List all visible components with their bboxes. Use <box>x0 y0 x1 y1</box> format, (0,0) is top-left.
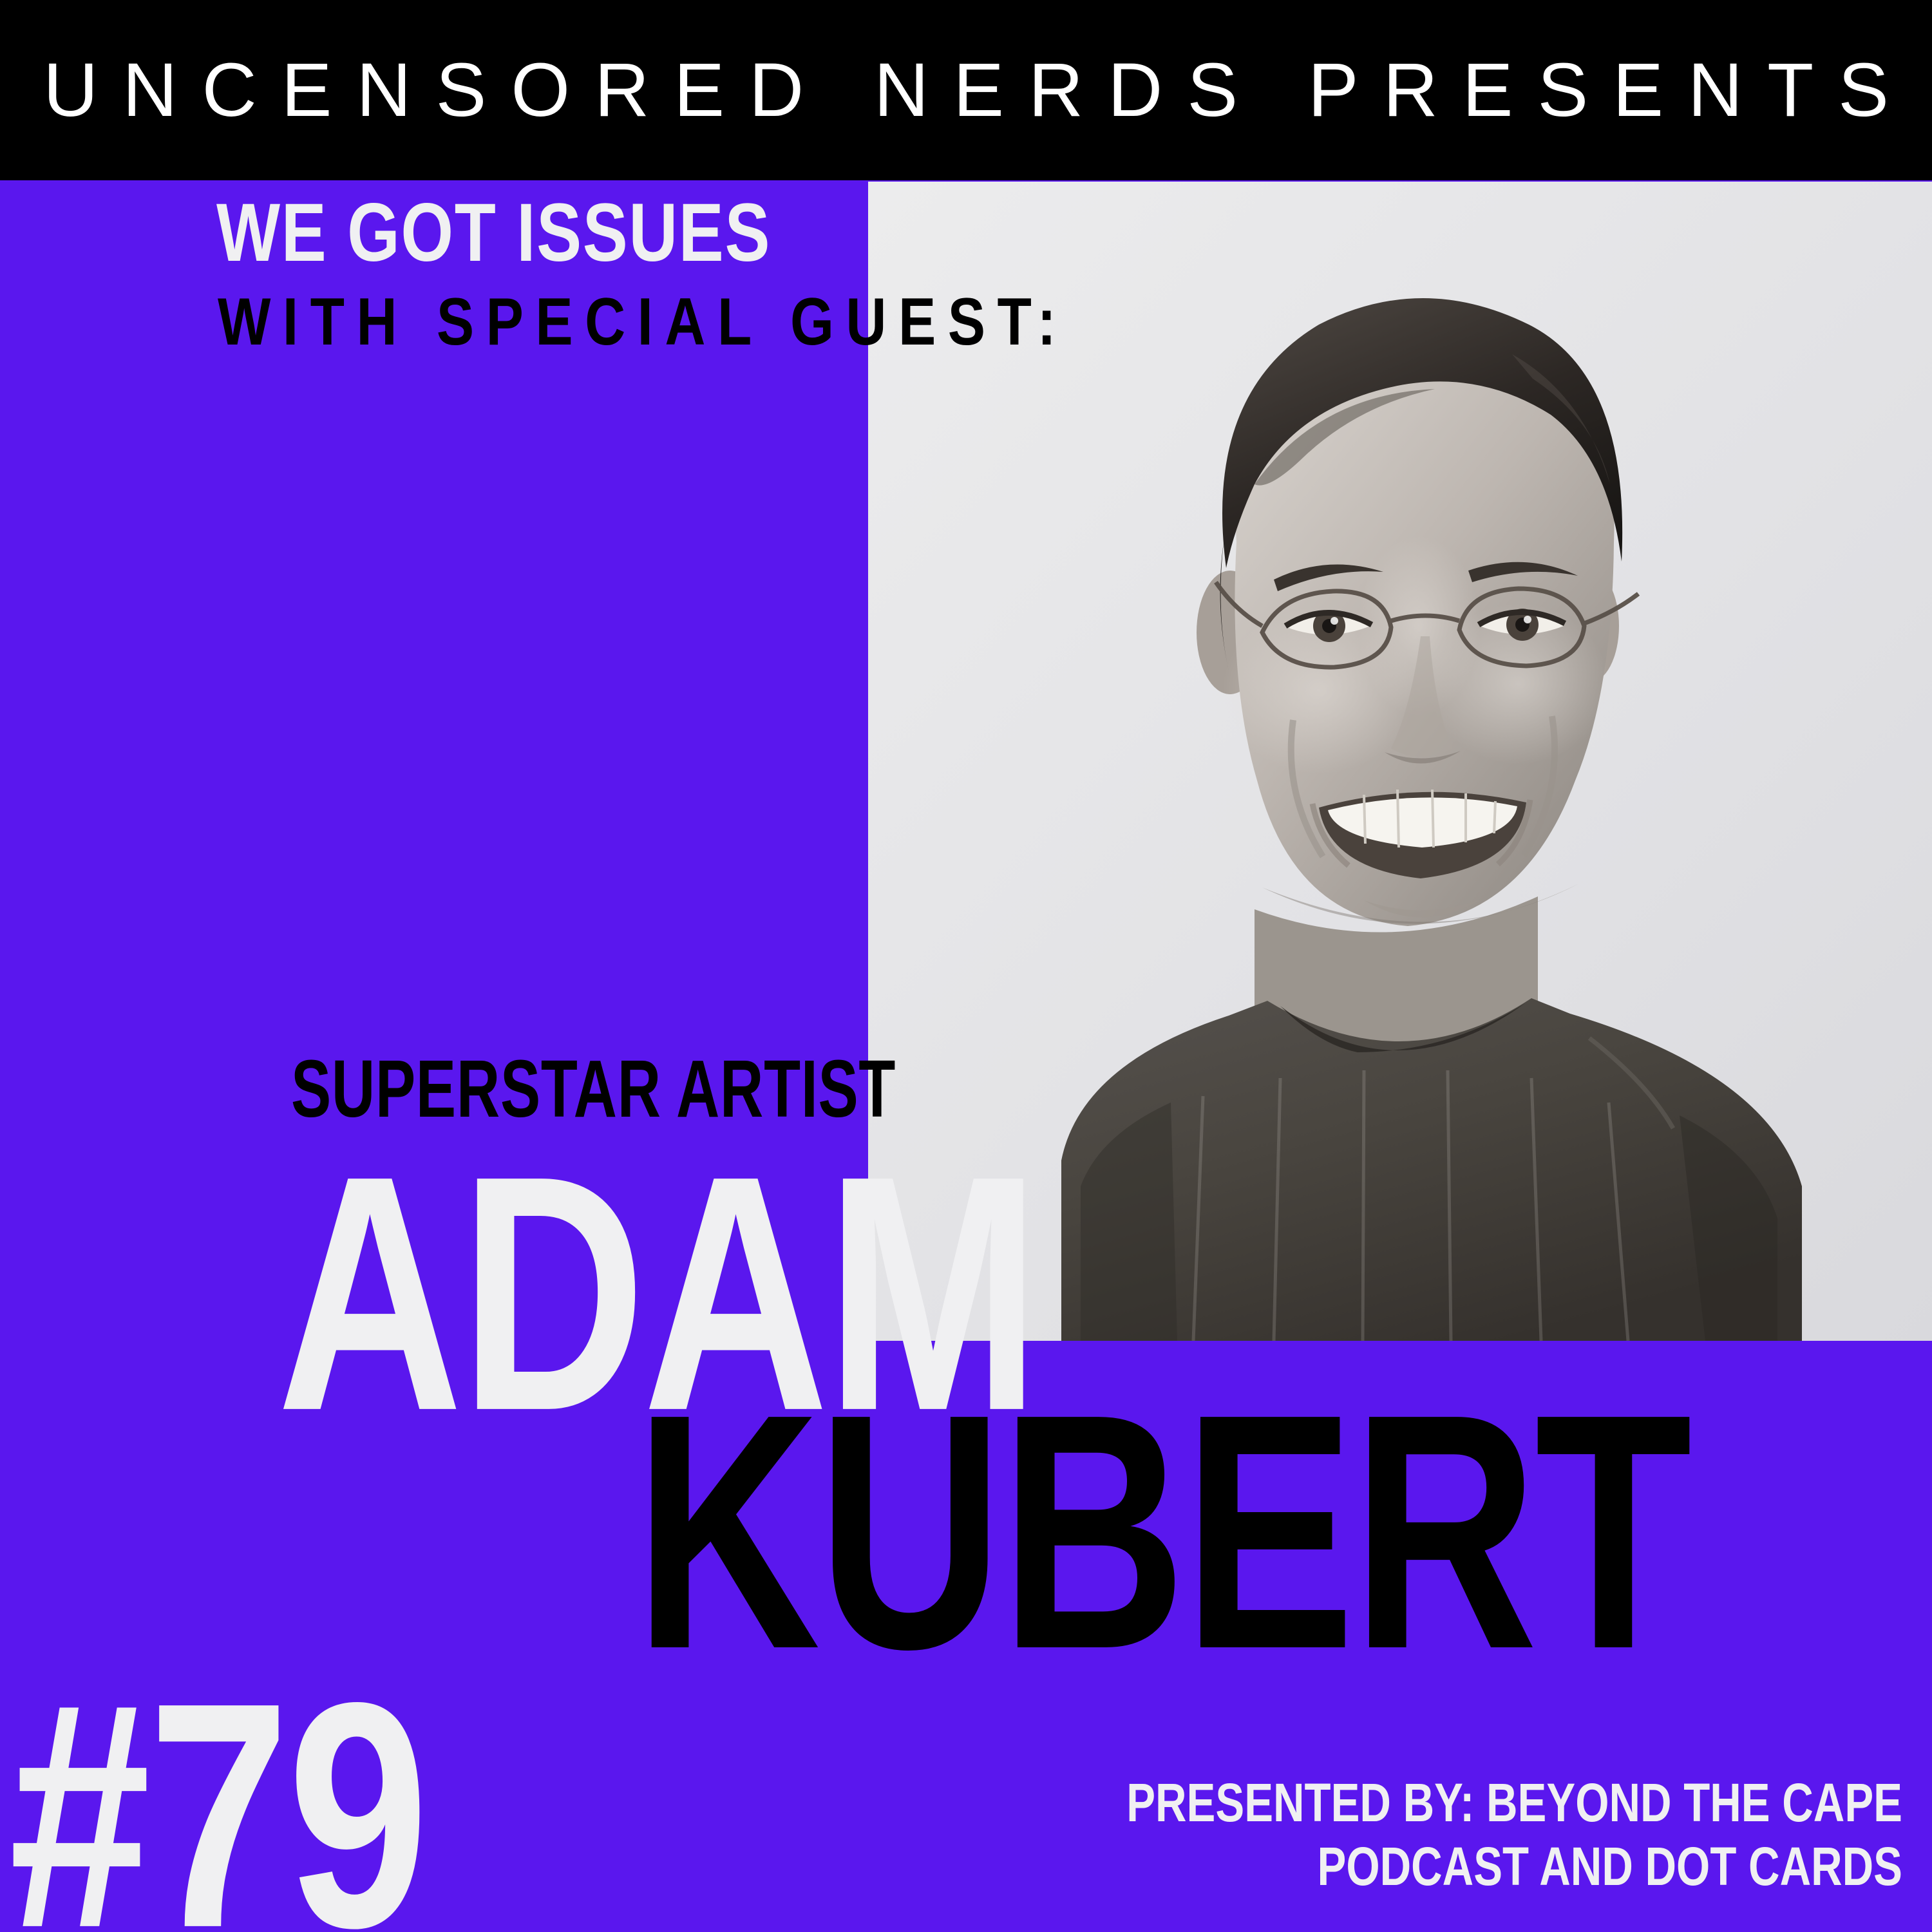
network-banner: UNCENSORED NERDS PRESENTS <box>0 0 1932 180</box>
credit-line-2: PODCAST AND DOT CARDS <box>1126 1835 1902 1899</box>
podcast-cover-art: UNCENSORED NERDS PRESENTS WE GOT ISSUES … <box>0 0 1932 1932</box>
special-guest-kicker: WITH SPECIAL GUEST: <box>218 289 1068 355</box>
network-presents-text: UNCENSORED NERDS PRESENTS <box>0 0 1932 180</box>
credit-line-1: PRESENTED BY: BEYOND THE CAPE <box>1126 1771 1902 1835</box>
presented-by-credit: PRESENTED BY: BEYOND THE CAPE PODCAST AN… <box>933 1771 1902 1899</box>
show-title: WE GOT ISSUES <box>216 192 771 274</box>
episode-number: #79 <box>9 1655 427 1932</box>
guest-last-name: KUBERT <box>634 1364 1689 1699</box>
